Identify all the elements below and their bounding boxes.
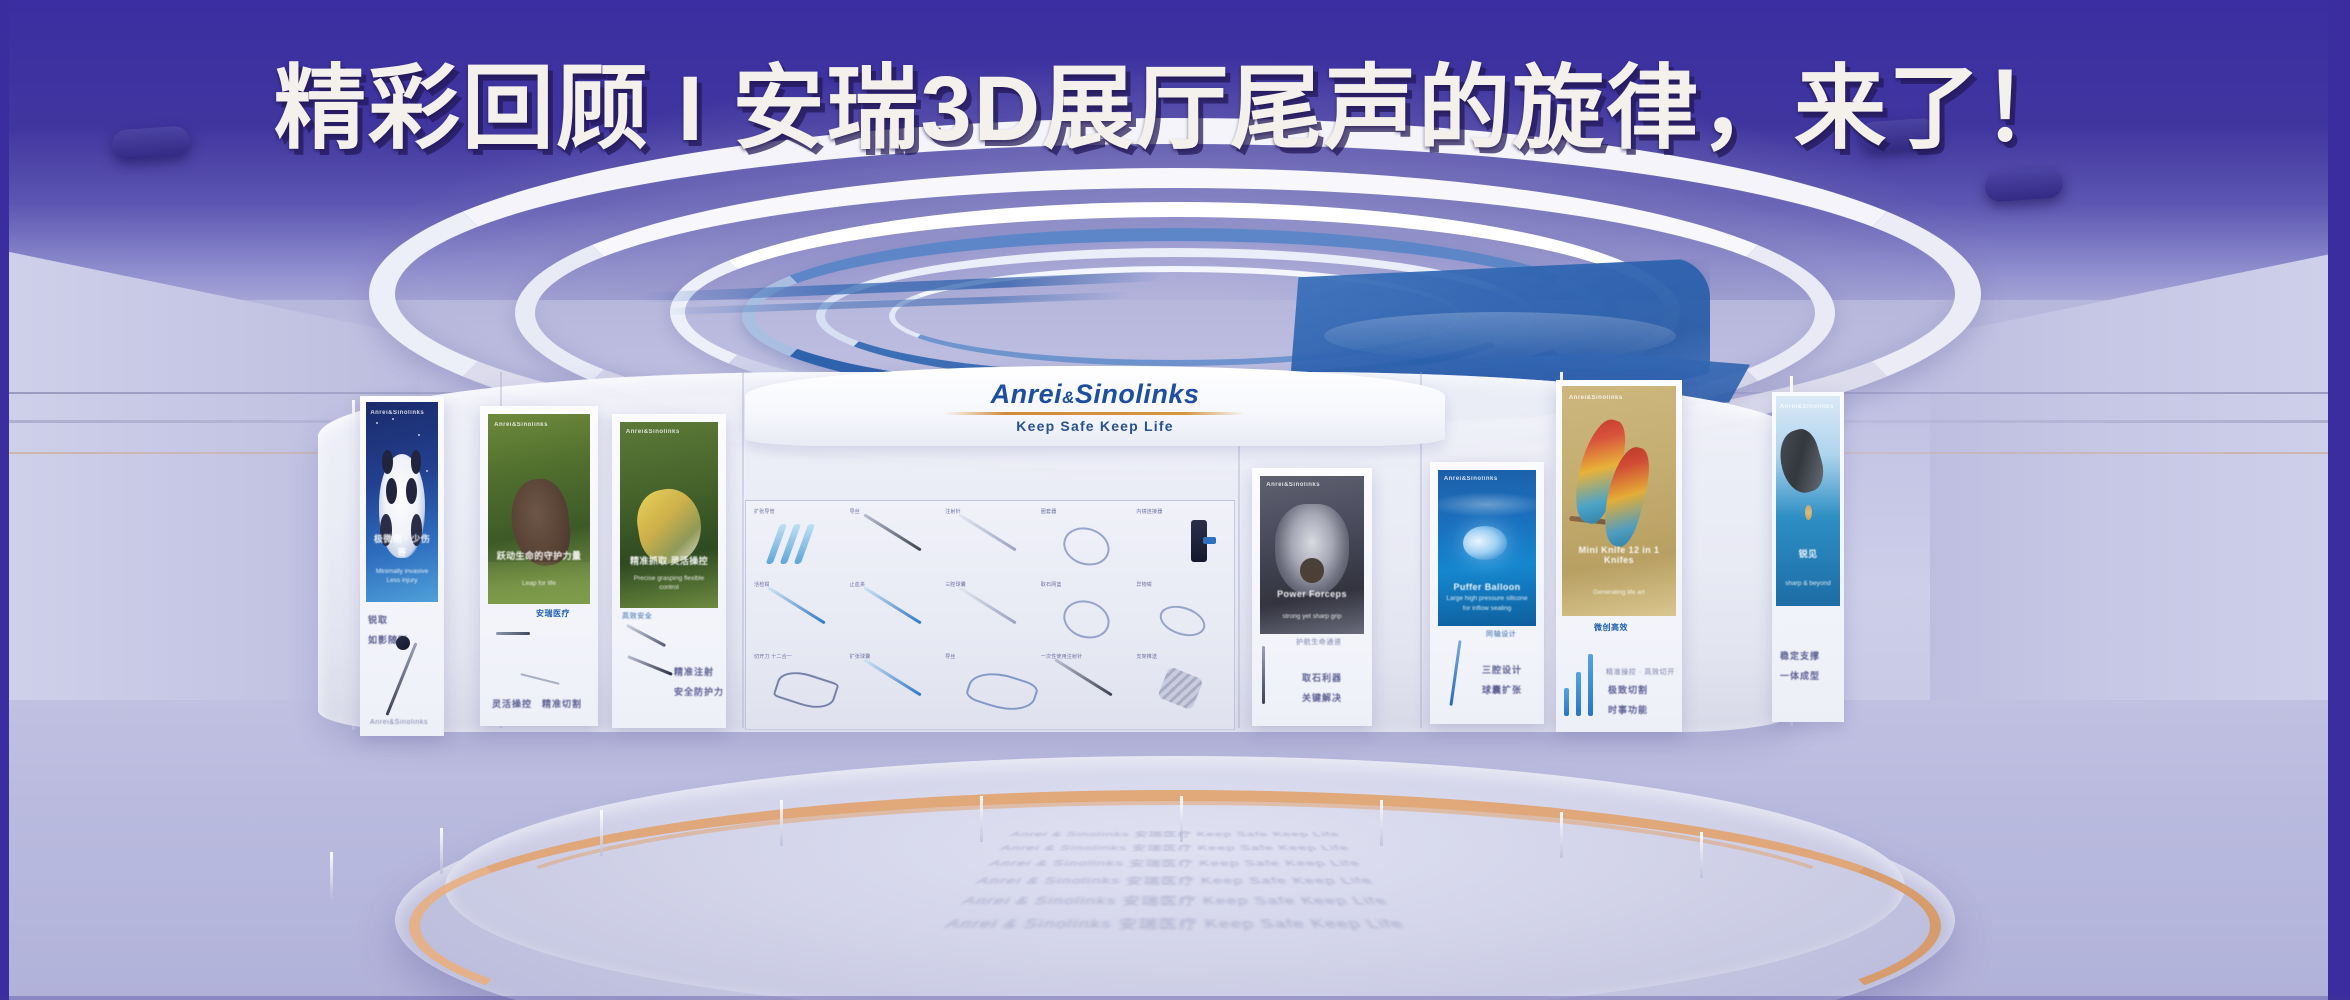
product-art-curve [773, 665, 840, 714]
product-cell: 一次性使用注射针 [1039, 652, 1133, 723]
poster-kangaroo: Anrei&Sinolinks 跃动生命的守护力量 Leap for life [488, 414, 590, 604]
wall-caption-note: 精准操控 · 高效切开 [1606, 668, 1675, 679]
poster-subtitle: strong yet sharp grip [1268, 612, 1355, 622]
wall-caption-note: 同轴设计 [1486, 630, 1516, 641]
wall-caption-note: 高效安全 [622, 612, 652, 623]
product-art-curve [964, 664, 1039, 718]
poster-subtitle: Minimally invasive Less injury [372, 567, 433, 587]
poster-brand-label: Anrei&Sinolinks [1444, 476, 1498, 482]
product-art-needle [959, 513, 1018, 551]
guardrail-post [330, 852, 333, 898]
guardrail-post [780, 800, 783, 846]
product-label: 支架推送 [1136, 653, 1157, 660]
guardrail-post [1700, 832, 1703, 878]
product-art-loop [1059, 594, 1115, 643]
product-cell: 异物钳 [1134, 580, 1228, 651]
wall-caption-line1: 取石利器 [1302, 672, 1342, 686]
poster-title: 极微创 · 少伤害 [370, 532, 433, 558]
instrument-head [396, 636, 410, 650]
poster-subtitle: Leap for life [496, 579, 582, 589]
poster-bee-eater-birds: Anrei&Sinolinks Mini Knife 12 in 1 Knife… [1562, 386, 1676, 616]
panel-birds-column: Anrei&Sinolinks Mini Knife 12 in 1 Knife… [1556, 380, 1682, 732]
poster-frog: Anrei&Sinolinks 精准抓取 灵活操控 Precise graspi… [620, 422, 718, 608]
wall-caption-line1: 稳定支撑 [1780, 650, 1820, 664]
panel-kangaroo-column: Anrei&Sinolinks 跃动生命的守护力量 Leap for life … [480, 406, 598, 726]
instrument-shaft [626, 624, 666, 647]
poster-subtitle: Generating life art [1571, 588, 1667, 598]
poster-brand-label: Anrei&Sinolinks [370, 410, 424, 416]
mini-bar-chart [1564, 652, 1593, 716]
poster-puffer-balloon: Anrei&Sinolinks Puffer Balloon Large hig… [1438, 470, 1536, 626]
panel-eagle-column: Anrei&Sinolinks 锐见 sharp & beyond 稳定支撑 一… [1772, 392, 1844, 722]
product-cell: 三腔球囊 [943, 580, 1037, 651]
panel-panda-column: Anrei&Sinolinks 极微创 · 少伤害 Minimally inva… [360, 396, 444, 736]
poster-title: 精准抓取 灵活操控 [626, 554, 712, 567]
bottom-edge [0, 996, 2350, 1000]
product-cell: 导丝 [943, 652, 1037, 723]
left-purple-edge [0, 0, 9, 1000]
panel-frog-column: Anrei&Sinolinks 精准抓取 灵活操控 Precise graspi… [612, 414, 726, 728]
poster-title: Power Forceps [1266, 589, 1358, 599]
wall-seam [742, 372, 744, 728]
product-label: 切开刀 十二合一 [754, 653, 792, 660]
water-wave [1438, 492, 1536, 517]
product-cell: 取石网篮 [1039, 580, 1133, 651]
guardrail-post [1180, 796, 1183, 842]
brand-logo-text: Anrei&Sinolinks [991, 379, 1200, 410]
instrument-shaft [1262, 646, 1265, 704]
brandmark-label: 微创高效 [1594, 622, 1628, 633]
product-cell: 导丝 [848, 507, 942, 578]
brandmark-label: 安瑞医疗 [536, 608, 570, 619]
poster-title: 跃动生命的守护力量 [494, 549, 584, 562]
product-art-loop [1156, 600, 1209, 641]
product-label: 止血夹 [850, 581, 866, 588]
brand-logo-underline [945, 412, 1245, 415]
brand-tagline: Keep Safe Keep Life [1016, 418, 1173, 434]
brand-name-sinolinks: Sinolinks [1075, 379, 1200, 409]
wall-caption-line1: 三腔设计 [1482, 664, 1522, 678]
panel-puffer-column: Anrei&Sinolinks Puffer Balloon Large hig… [1430, 462, 1544, 724]
poster-title: Mini Knife 12 in 1 Knifes [1569, 545, 1669, 565]
panel-badger-column: Anrei&Sinolinks Power Forceps strong yet… [1252, 468, 1372, 726]
product-cell: 切开刀 十二合一 [752, 652, 846, 723]
product-art-stripes [767, 524, 825, 564]
mini-bar [1588, 654, 1593, 716]
wall-caption-line2: 关键解决 [1302, 692, 1342, 706]
sun-accent [1805, 505, 1812, 520]
brand-ampersand: & [1062, 388, 1075, 407]
product-art-screw [1158, 666, 1205, 710]
wall-caption-line2: 精准切割 [542, 698, 582, 712]
poster-brand-label: Anrei&Sinolinks [626, 429, 680, 435]
poster-subtitle: sharp & beyond [1781, 579, 1835, 589]
product-label: 导丝 [850, 508, 860, 515]
guardrail-post [600, 810, 603, 856]
product-cell: 注射针 [943, 507, 1037, 578]
poster-subtitle: Precise grasping flexible control [628, 574, 710, 594]
product-cell: 扩张球囊 [848, 652, 942, 723]
product-cell: 扩张导管 [752, 507, 846, 578]
wall-caption-line1: 锐取 [368, 614, 388, 628]
brand-name-anrei: Anrei [991, 379, 1063, 409]
poster-title: 锐见 [1780, 547, 1836, 560]
poster-eagle: Anrei&Sinolinks 锐见 sharp & beyond [1776, 396, 1840, 606]
product-art-connector [1191, 520, 1207, 562]
wall-caption-note: 护航生命通道 [1296, 638, 1342, 649]
product-cell: 支架推送 [1134, 652, 1228, 723]
product-art-needle [1054, 659, 1113, 697]
poster-brand-label: Anrei&Sinolinks [1266, 482, 1320, 488]
guardrail-post [440, 828, 443, 874]
wall-caption-note: Anrei&Sinolinks [370, 718, 428, 729]
product-label: 内镜连接器 [1136, 508, 1162, 515]
ceiling-spotlight [1984, 167, 2064, 202]
exhibition-banner-image: Anrei&Sinolinks Keep Safe Keep Life Anre… [0, 0, 2350, 1000]
brand-logo-band: Anrei&Sinolinks Keep Safe Keep Life [745, 366, 1445, 446]
poster-panda: Anrei&Sinolinks 极微创 · 少伤害 Minimally inva… [366, 402, 438, 602]
right-purple-edge [2328, 0, 2350, 1000]
product-label: 圈套器 [1041, 508, 1057, 515]
mini-bar [1564, 688, 1569, 716]
poster-brand-label: Anrei&Sinolinks [494, 422, 548, 428]
balloon-figure [1463, 526, 1506, 560]
eagle-figure [1776, 425, 1829, 496]
product-art-needle [863, 586, 922, 624]
product-label: 异物钳 [1136, 581, 1152, 588]
guardrail-post [1380, 800, 1383, 846]
product-cell: 内镜连接器 [1134, 507, 1228, 578]
product-instrument-grid: 扩张导管 导丝 注射针 圈套器 内镜连接器 活检钳 止血夹 三腔球囊 取石网篮 … [745, 500, 1235, 730]
poster-subtitle: Large high pressure silicone for inflow … [1446, 594, 1528, 614]
poster-title: Puffer Balloon [1444, 582, 1530, 592]
instrument-shaft [1282, 654, 1285, 706]
poster-brand-label: Anrei&Sinolinks [1569, 395, 1623, 401]
product-art-needle [863, 513, 922, 551]
guardrail-post [980, 796, 983, 842]
wall-caption-line2: 一体成型 [1780, 670, 1820, 684]
instrument-shaft [1449, 640, 1461, 706]
instrument-shaft [627, 655, 673, 676]
wall-caption-line1: 极致切割 [1608, 684, 1648, 698]
product-label: 三腔球囊 [945, 581, 966, 588]
poster-brand-label: Anrei&Sinolinks [1780, 404, 1834, 410]
product-art-needle [768, 586, 827, 624]
product-label: 取石网篮 [1041, 581, 1062, 588]
mini-bar [1576, 672, 1581, 716]
wall-caption-line1: 精准注射 [674, 666, 714, 680]
product-art-needle [863, 659, 922, 697]
product-label: 导丝 [945, 653, 955, 660]
guardrail-post [1560, 812, 1563, 858]
wall-caption-line2: 时事功能 [1608, 704, 1648, 718]
product-art-needle [959, 586, 1018, 624]
product-cell: 活检钳 [752, 580, 846, 651]
product-label: 一次性使用注射针 [1041, 653, 1083, 660]
product-label: 扩张导管 [754, 508, 775, 515]
product-cell: 圈套器 [1039, 507, 1133, 578]
wall-caption-line2: 球囊扩张 [1482, 684, 1522, 698]
wall-caption-line2: 安全防护力 [674, 686, 724, 700]
instrument-shaft [496, 632, 530, 635]
product-cell: 止血夹 [848, 580, 942, 651]
product-art-loop [1059, 522, 1115, 571]
banner-headline: 精彩回顾 I 安瑞3D展厅尾声的旋律，来了！ [0, 34, 2350, 167]
poster-badger: Anrei&Sinolinks Power Forceps strong yet… [1260, 476, 1364, 634]
instrument-shaft [385, 642, 417, 715]
instrument-shaft [520, 673, 559, 685]
wall-caption-line1: 灵活操控 [492, 698, 532, 712]
